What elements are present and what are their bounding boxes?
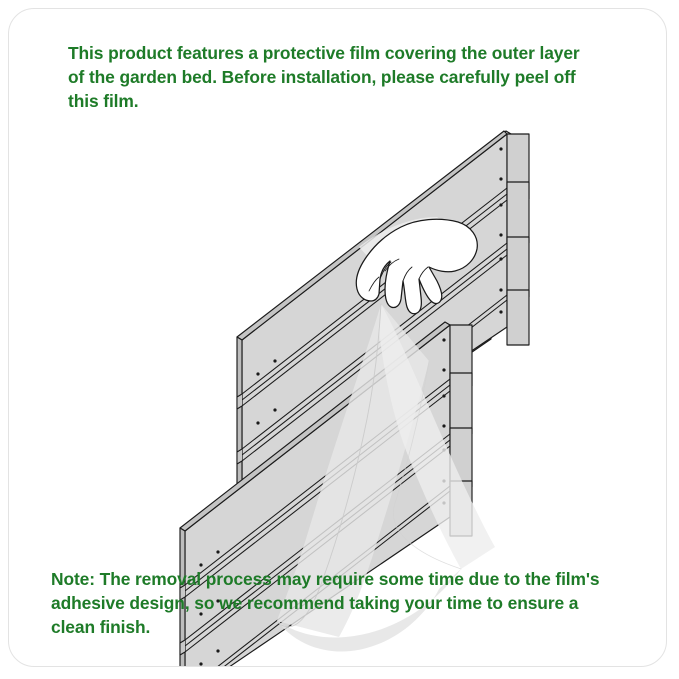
peeling-hand xyxy=(356,219,477,313)
note-paragraph: Note: The removal process may require so… xyxy=(51,567,631,640)
instruction-card: This product features a protective film … xyxy=(8,8,667,667)
rivet-dots xyxy=(256,147,502,473)
intro-paragraph: This product features a protective film … xyxy=(68,41,613,114)
upper-panel-face xyxy=(239,131,530,509)
protective-film-top xyxy=(359,217,461,271)
right-end-caps xyxy=(450,325,472,536)
panel-ribs xyxy=(237,188,507,506)
upper-panel-assembly xyxy=(237,131,529,506)
upper-panel xyxy=(239,131,511,546)
right-end-caps xyxy=(507,134,529,345)
